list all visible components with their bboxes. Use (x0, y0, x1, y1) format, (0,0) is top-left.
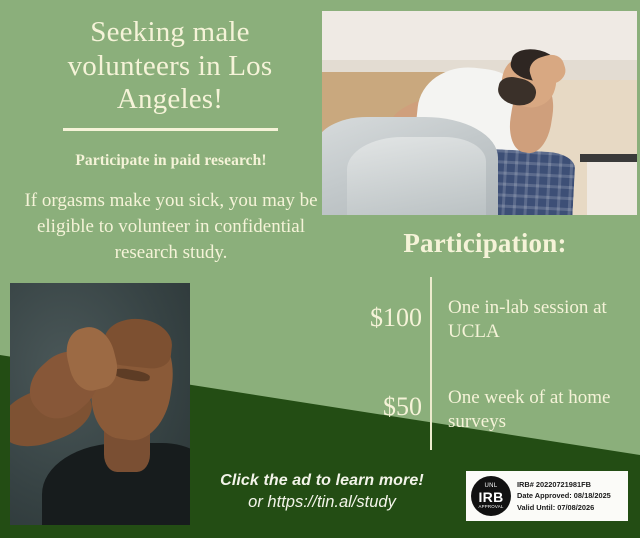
page-title: Seeking male volunteers in Los Angeles! (30, 16, 310, 117)
bed-wall-upper (322, 11, 637, 60)
cta-primary-text: Click the ad to learn more! (200, 472, 444, 490)
participation-heading: Participation: (340, 228, 630, 259)
irb-approval-stamp: UNL IRB APPROVAL IRB# 20220721981FB Date… (466, 471, 628, 521)
subheading: Participate in paid research! (30, 152, 312, 170)
irb-number: IRB# 20220721981FB (517, 479, 611, 490)
photo-man-on-bed (322, 11, 637, 215)
payment-amount: $100 (337, 303, 422, 333)
irb-date-approved: Date Approved: 08/18/2025 (517, 490, 611, 501)
irb-seal-top-text: UNL (485, 483, 498, 489)
title-divider (63, 128, 278, 131)
body-copy: If orgasms make you sick, you may be eli… (18, 188, 324, 267)
irb-details: IRB# 20220721981FB Date Approved: 08/18/… (517, 479, 611, 513)
advertisement-banner[interactable]: Seeking male volunteers in Los Angeles! … (0, 0, 640, 538)
call-to-action[interactable]: Click the ad to learn more! or https://t… (200, 472, 444, 512)
irb-seal-middle-text: IRB (478, 490, 503, 504)
payment-description: One week of at home surveys (448, 386, 633, 434)
irb-valid-until: Valid Until: 07/08/2026 (517, 502, 611, 513)
bed-nightstand-object (580, 154, 637, 162)
irb-seal-bottom-text: APPROVAL (479, 505, 504, 509)
bed-sheets-fold (347, 137, 486, 215)
payment-description: One in-lab session at UCLA (448, 296, 633, 344)
irb-seal-icon: UNL IRB APPROVAL (471, 476, 511, 516)
bed-nightstand (587, 162, 637, 215)
participation-divider (430, 277, 432, 450)
photo-man-portrait (10, 283, 190, 525)
cta-url-text: or https://tin.al/study (200, 493, 444, 512)
payment-amount: $50 (337, 392, 422, 422)
